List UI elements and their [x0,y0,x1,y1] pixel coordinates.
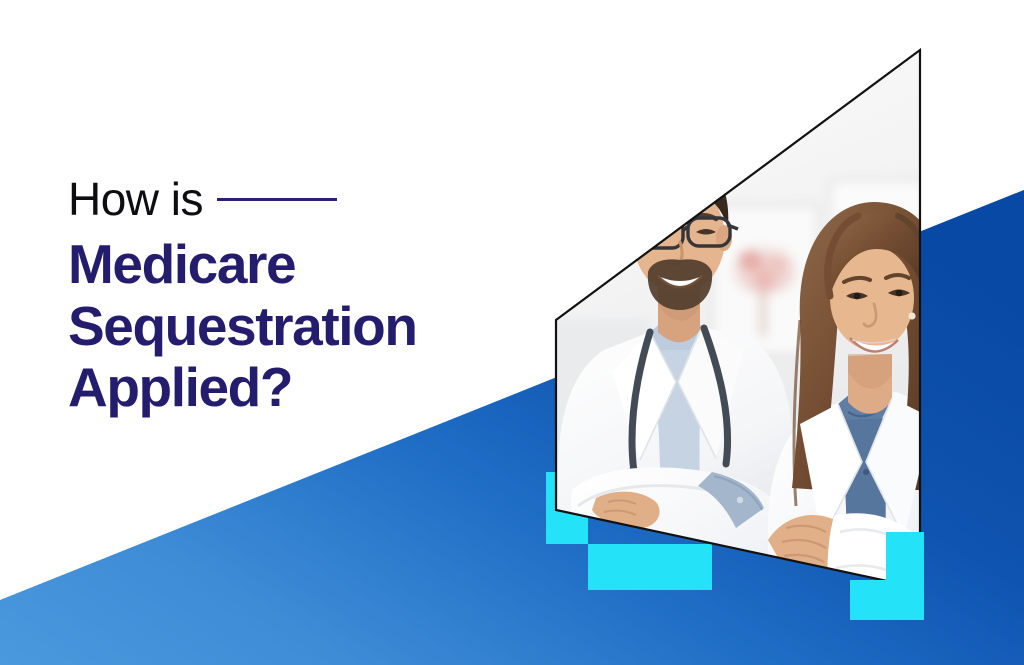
photo-composition [500,20,1024,665]
eyebrow-rule-icon [217,198,337,201]
title-line-1: Medicare [68,234,538,296]
title-line-3: Applied? [68,357,538,419]
page-title: Medicare Sequestration Applied? [68,234,538,419]
title-line-2: Sequestration [68,296,538,358]
eyebrow-text: How is [68,176,203,222]
medicare-sequestration-banner: How is Medicare Sequestration Applied? [0,0,1024,665]
eyebrow-row: How is [68,170,538,228]
headline-block: How is Medicare Sequestration Applied? [68,170,538,456]
photo-and-frame-svg [500,20,1024,665]
